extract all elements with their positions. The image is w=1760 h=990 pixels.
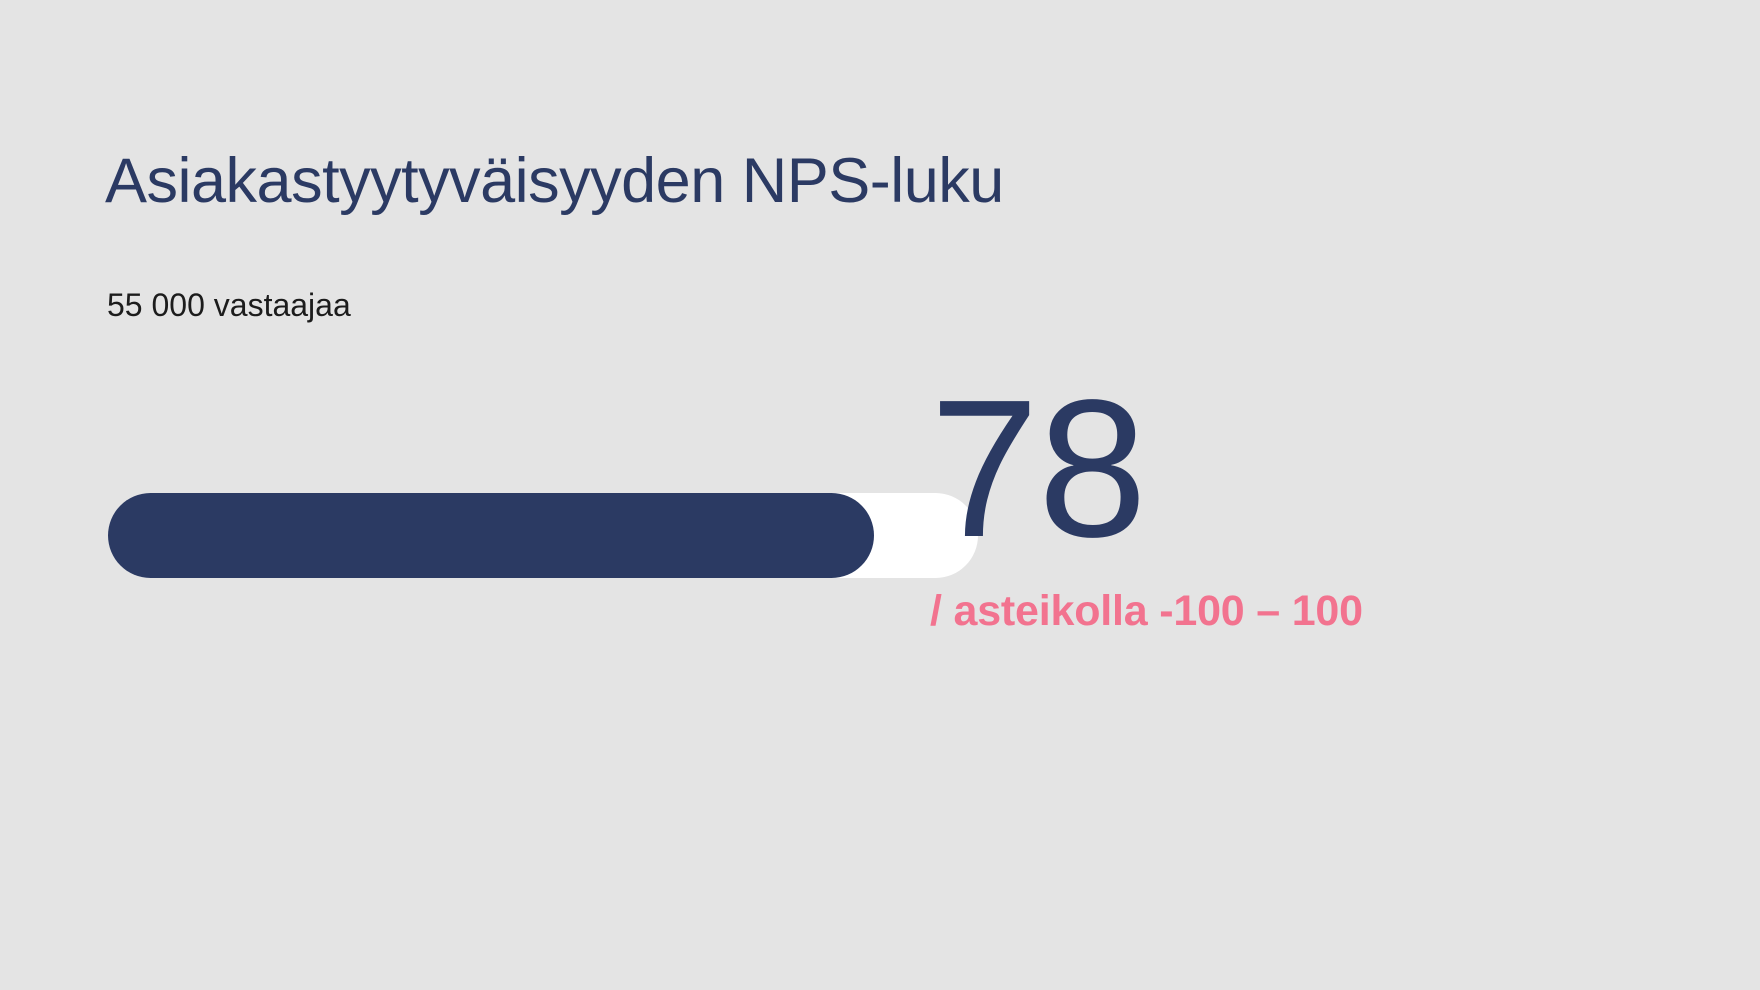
nps-scale-caption: / asteikolla -100 – 100 — [900, 587, 1480, 636]
nps-kpi-card: Asiakastyytyväisyyden NPS-luku 55 000 va… — [0, 0, 1760, 990]
nps-value-block: 78 / asteikolla -100 – 100 — [900, 375, 1480, 636]
nps-progress-bar — [108, 493, 978, 578]
nps-value: 78 — [900, 375, 1480, 563]
page-title: Asiakastyytyväisyyden NPS-luku — [105, 148, 1004, 214]
progress-fill — [108, 493, 874, 578]
respondent-count-label: 55 000 vastaajaa — [107, 288, 351, 323]
